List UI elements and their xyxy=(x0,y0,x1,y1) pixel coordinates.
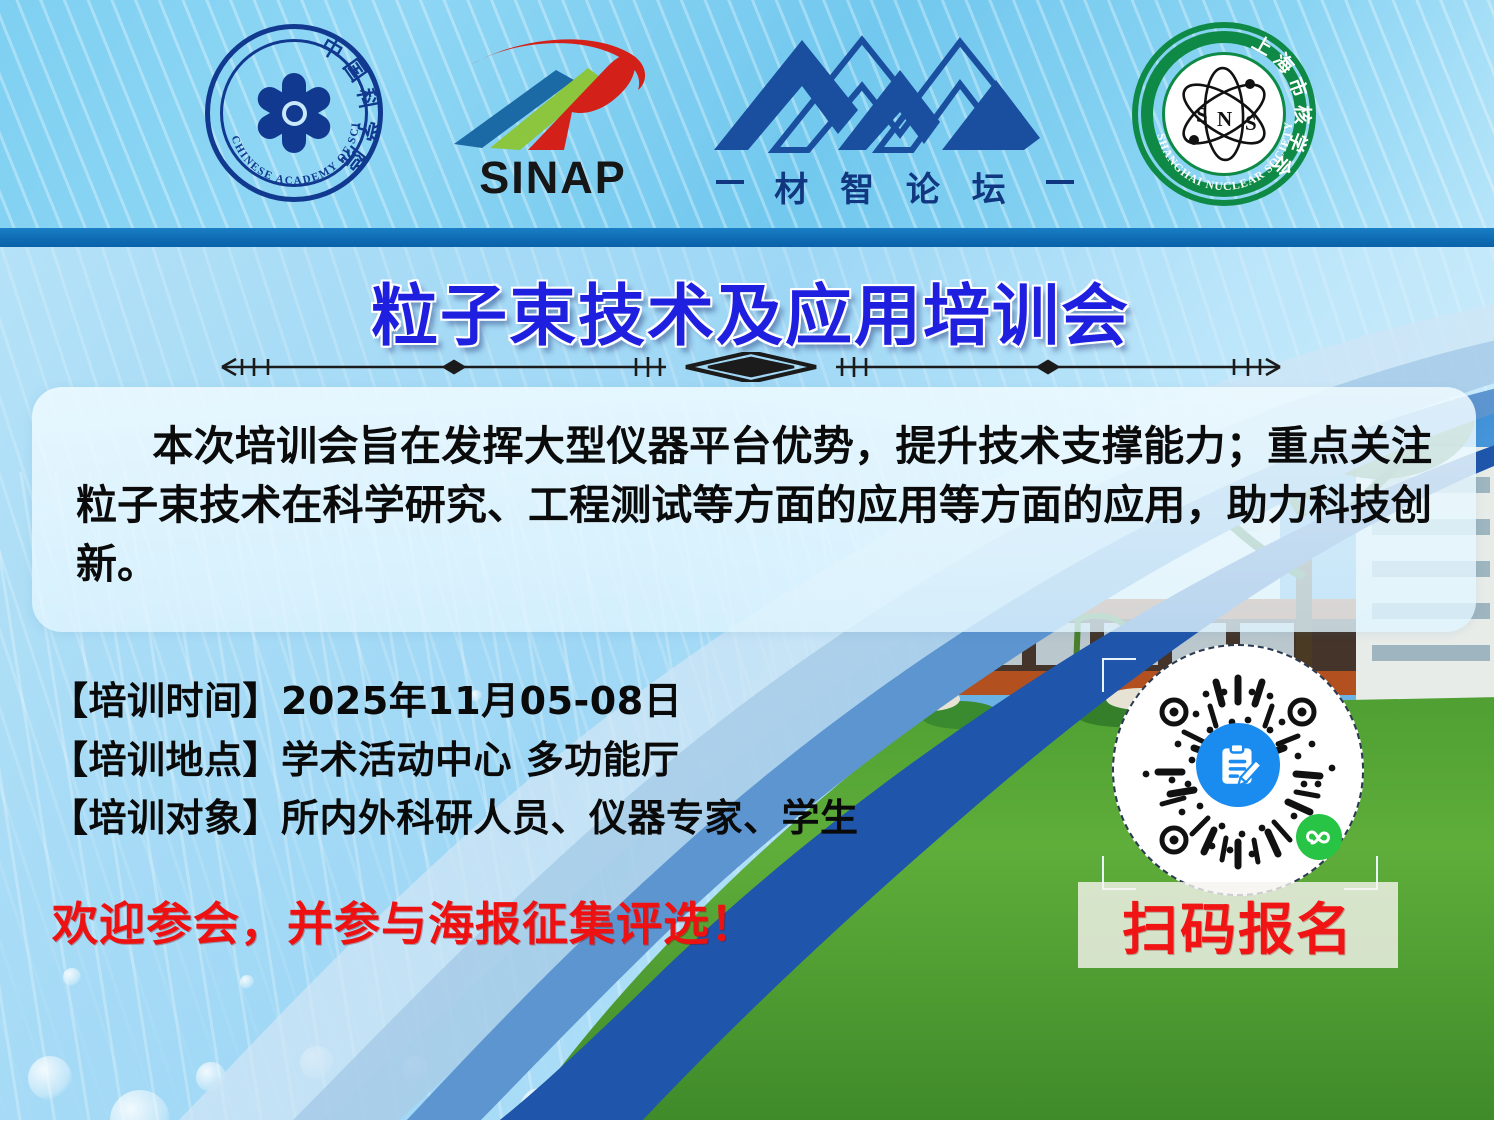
sinap-wordmark: SINAP xyxy=(468,152,638,204)
event-details: 【培训时间】2025年11月05-08日 【培训地点】学术活动中心 多功能厅 【… xyxy=(50,672,950,848)
forum-dash-right xyxy=(1046,180,1074,184)
detail-label-location: 【培训地点】 xyxy=(50,738,281,782)
svg-text:SHANGHAI NUCLEAR SOCIETY: SHANGHAI NUCLEAR SOCIETY xyxy=(1154,121,1295,193)
sinap-logo: SINAP xyxy=(448,28,648,200)
wechat-miniprogram-icon xyxy=(1296,814,1342,860)
detail-value-location: 学术活动中心 多功能厅 xyxy=(281,738,680,782)
header-separator-bar xyxy=(0,228,1501,247)
decorative-divider xyxy=(196,352,1306,382)
qr-bracket-top-left xyxy=(1102,658,1136,692)
right-edge-margin xyxy=(1494,0,1501,1123)
forum-wordmark: 材 智 论 坛 xyxy=(710,162,1080,211)
intro-paragraph: 本次培训会旨在发挥大型仪器平台优势，提升技术支撑能力；重点关注粒子束技术在科学研… xyxy=(76,417,1432,594)
page-title: 粒子束技术及应用培训会 xyxy=(0,262,1501,359)
logo-row: 中 国 科 学 院 CHINESE ACADEMY OF SCIENCES xyxy=(0,0,1501,228)
scan-label-text: 扫码报名 xyxy=(1122,885,1354,966)
detail-row-time: 【培训时间】2025年11月05-08日 xyxy=(50,672,950,731)
svg-text:S: S xyxy=(1245,111,1257,135)
detail-value-audience: 所内外科研人员、仪器专家、学生 xyxy=(281,796,859,840)
cas-flower-emblem xyxy=(248,67,340,159)
chinese-academy-of-sciences-logo: 中 国 科 学 院 CHINESE ACADEMY OF SCIENCES xyxy=(205,24,383,202)
intro-text-box: 本次培训会旨在发挥大型仪器平台优势，提升技术支撑能力；重点关注粒子束技术在科学研… xyxy=(32,387,1476,632)
shanghai-nuclear-society-logo: 上 海 市 核 学 会 SHANGHAI NUCLEAR SOCIETY S N… xyxy=(1132,22,1316,206)
scan-to-register-label: 扫码报名 xyxy=(1078,882,1398,968)
poster-root: 中 国 科 学 院 CHINESE ACADEMY OF SCIENCES xyxy=(0,0,1501,1123)
detail-label-time: 【培训时间】 xyxy=(50,679,281,723)
svg-text:S: S xyxy=(1196,103,1208,127)
caizhi-forum-logo: 材 智 论 坛 xyxy=(710,22,1080,210)
svg-text:N: N xyxy=(1217,107,1232,131)
call-to-action-text: 欢迎参会，并参与海报征集评选！ xyxy=(52,888,757,954)
detail-row-audience: 【培训对象】所内外科研人员、仪器专家、学生 xyxy=(50,789,950,848)
detail-label-audience: 【培训对象】 xyxy=(50,796,281,840)
clipboard-pencil-icon xyxy=(1196,723,1280,807)
registration-qr-code[interactable] xyxy=(1112,644,1364,896)
detail-value-time: 2025年11月05-08日 xyxy=(281,679,682,723)
detail-row-location: 【培训地点】学术活动中心 多功能厅 xyxy=(50,731,950,790)
